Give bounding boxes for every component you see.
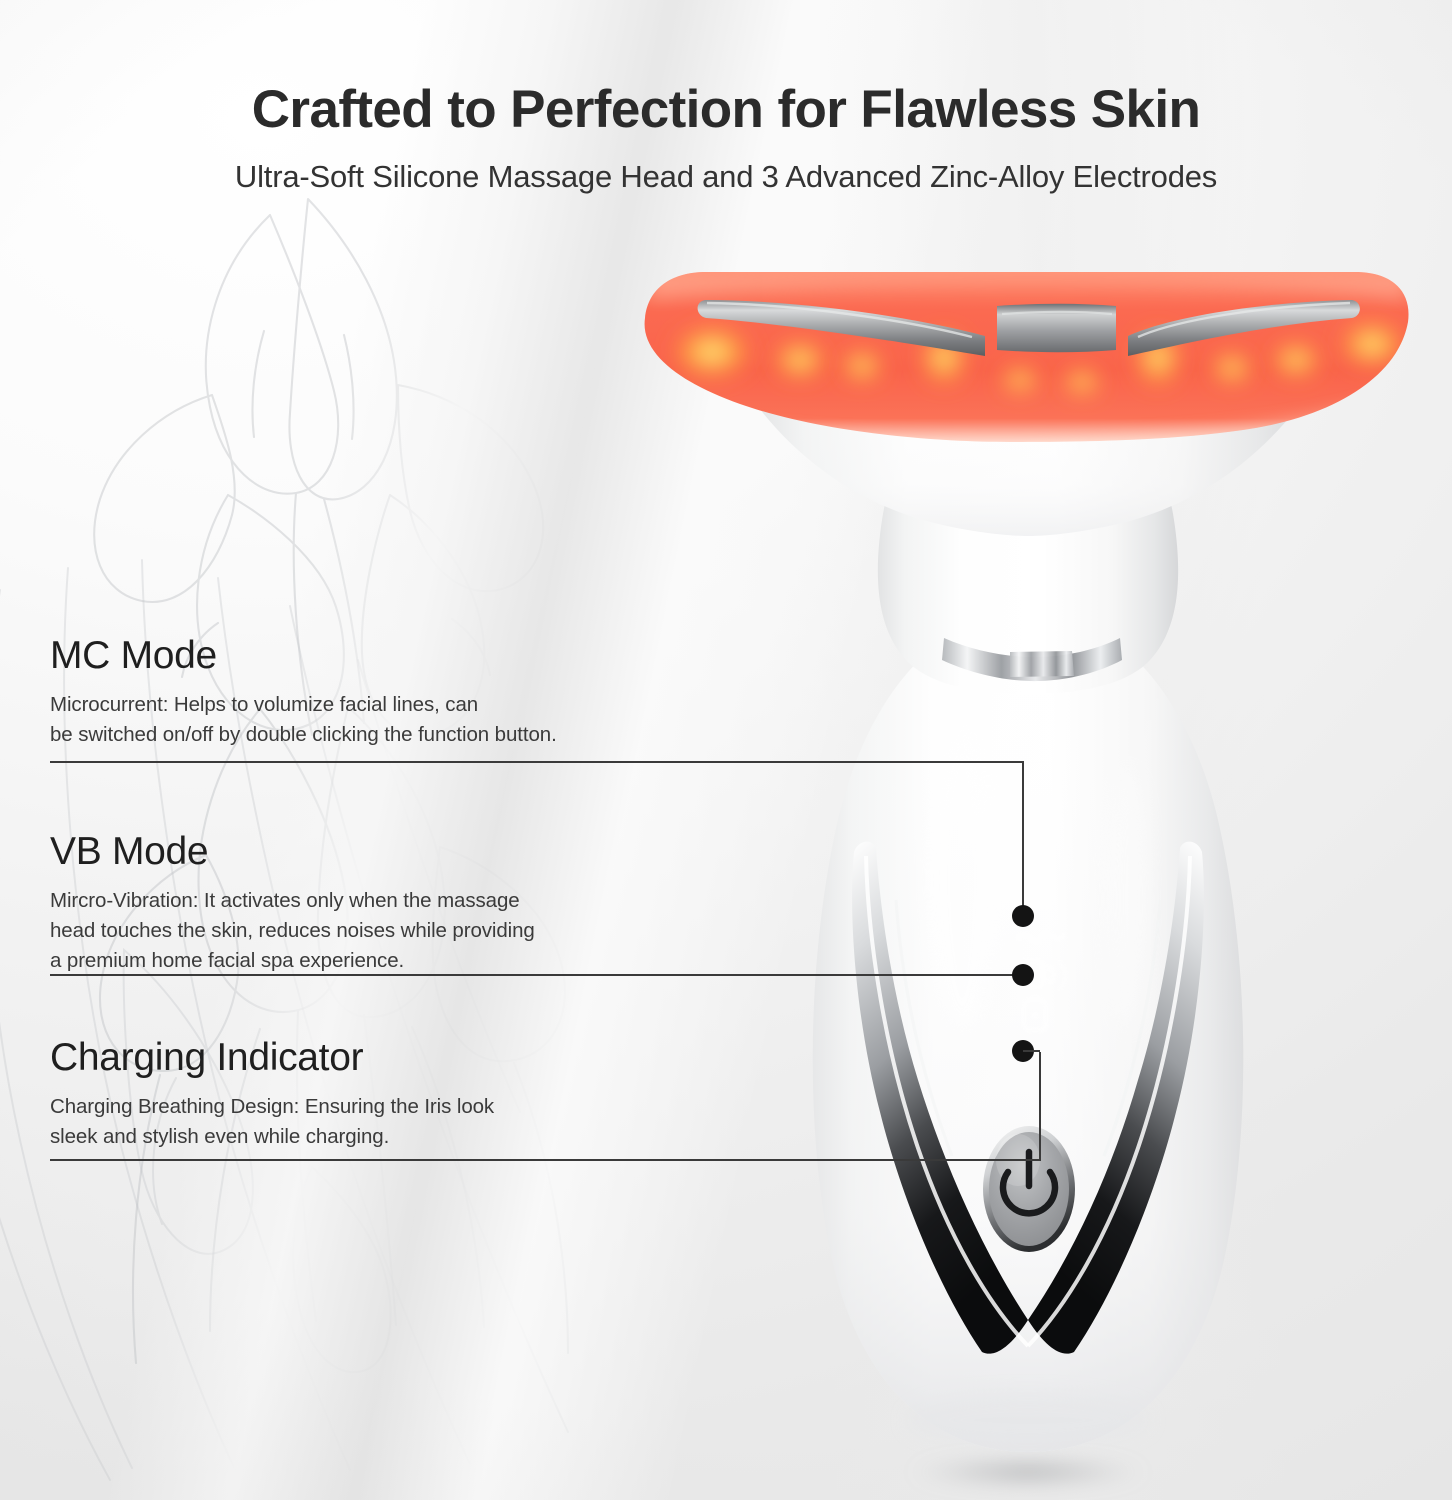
led-light [1336,318,1408,370]
infographic-canvas: Crafted to Perfection for Flawless Skin … [0,0,1452,1500]
device-chrome-ring-tab [1010,651,1074,677]
feature-block-mc-mode: MC Mode Microcurrent: Helps to volumize … [50,636,557,750]
feature-title-mc-mode: MC Mode [50,636,557,677]
feature-body-vb-mode: Mircro-Vibration: It activates only when… [50,873,535,976]
led-light [998,365,1042,395]
led-light [1060,367,1104,397]
led-light [838,348,886,384]
led-light [1208,350,1256,386]
led-light [770,338,830,382]
feature-body-charging-indicator: Charging Breathing Design: Ensuring the … [50,1079,494,1152]
feature-body-mc-mode: Microcurrent: Helps to volumize facial l… [50,677,557,750]
feature-title-vb-mode: VB Mode [50,832,535,873]
feature-block-charging-indicator: Charging Indicator Charging Breathing De… [50,1038,494,1152]
led-light [668,322,756,382]
feature-block-vb-mode: VB Mode Mircro-Vibration: It activates o… [50,832,535,976]
feature-title-charging-indicator: Charging Indicator [50,1038,494,1079]
led-light [1268,340,1324,380]
device-ground-shadow [910,1456,1146,1488]
